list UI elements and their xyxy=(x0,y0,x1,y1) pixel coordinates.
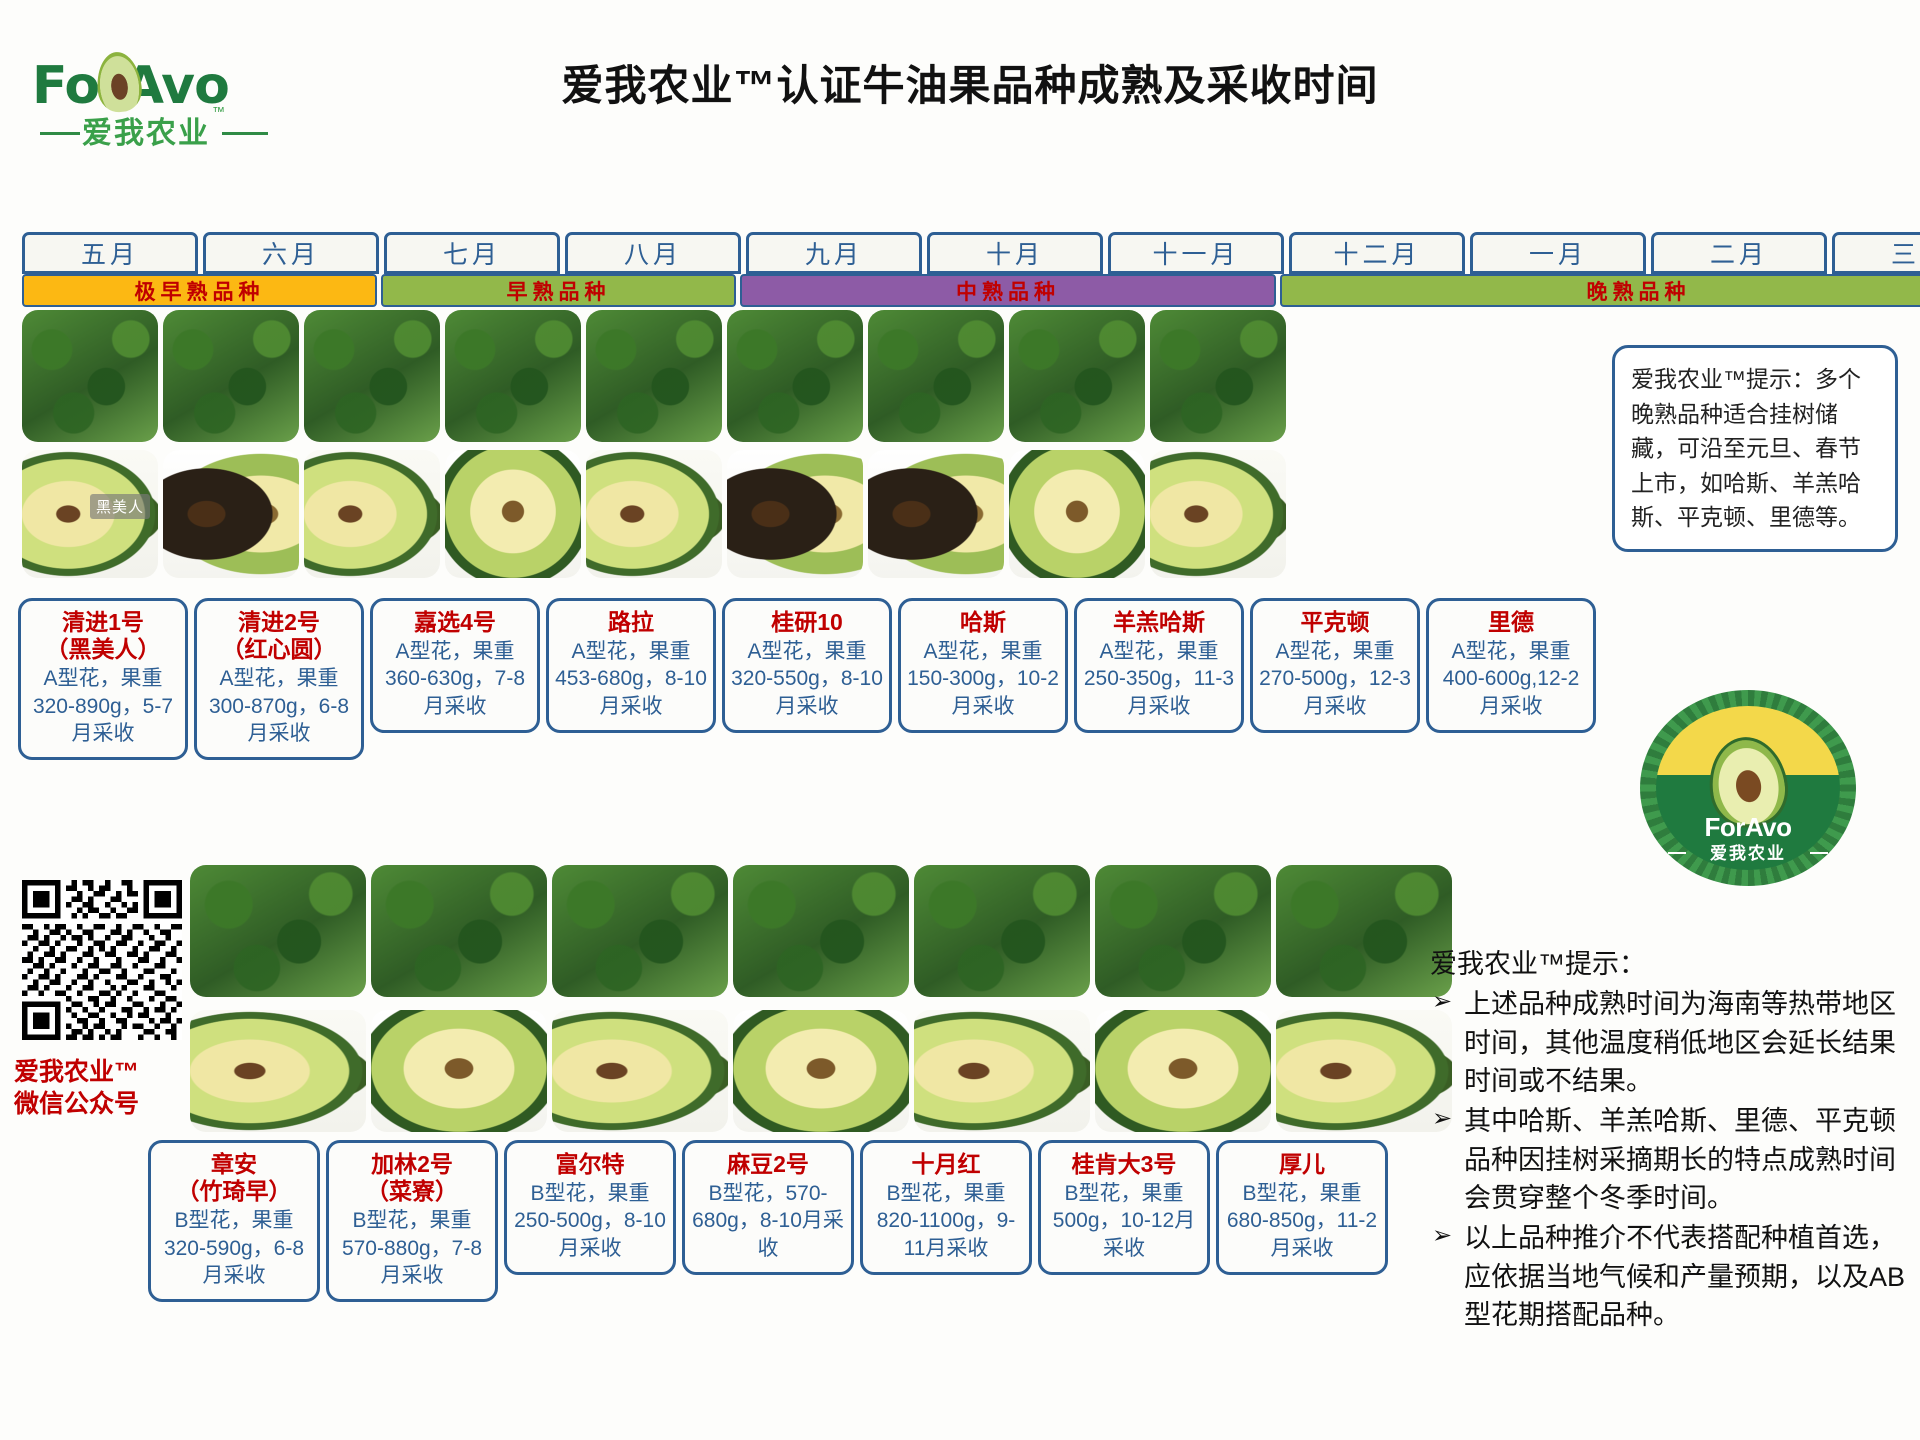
month-cell-1: 五月 xyxy=(22,232,198,274)
brand-logo: ForAvo 爱我农业 ™ xyxy=(26,30,286,140)
variety-card: 羊羔哈斯A型花，果重250-350g，11-3月采收 xyxy=(1074,598,1244,733)
avocado-tree-guikenda3 xyxy=(1095,865,1271,997)
variety-card: 嘉选4号A型花，果重360-630g，7-8月采收 xyxy=(370,598,540,733)
variety-card: 加林2号（菜寮）B型花，果重570-880g，7-8月采收 xyxy=(326,1140,498,1302)
avocado-tree-gem xyxy=(868,310,1004,442)
variety-description: A型花，果重453-680g，8-10月采收 xyxy=(555,638,707,720)
season-band-1: 极早熟品种 xyxy=(22,274,377,307)
row1-variety-cards: 清进1号（黑美人）A型花，果重320-890g，5-7月采收清进2号（红心圆）A… xyxy=(18,598,1596,760)
variety-card: 桂研10A型花，果重320-550g，8-10月采收 xyxy=(722,598,892,733)
season-bar: 极早熟品种早熟品种中熟品种晚熟品种 xyxy=(22,274,1920,307)
tip-bottom: 爱我农业™提示： ➢上述品种成熟时间为海南等热带地区时间，其他温度稍低地区会延长… xyxy=(1430,945,1910,1336)
avocado-cut-lula xyxy=(445,450,581,578)
row2-fruit-photos xyxy=(190,1010,1452,1132)
avocado-cut-heimeiren: 黑美人 xyxy=(22,450,158,578)
avocado-tree-lula xyxy=(445,310,581,442)
avocado-tree-hass xyxy=(727,310,863,442)
variety-name: 加林2号 xyxy=(335,1151,489,1178)
row1-fruit-photos: 黑美人 xyxy=(22,450,1286,578)
avocado-cut-fuerte xyxy=(552,1010,728,1132)
variety-name: 嘉选4号 xyxy=(379,609,531,636)
variety-alias: （竹琦早） xyxy=(157,1178,311,1205)
variety-name: 里德 xyxy=(1435,609,1587,636)
logo-chinese-name: 爱我农业 xyxy=(82,108,210,152)
row1-tree-photos xyxy=(22,310,1286,442)
variety-name: 桂研10 xyxy=(731,609,883,636)
variety-card: 哈斯A型花，果重150-300g，10-2月采收 xyxy=(898,598,1068,733)
tip-bullet-2: ➢其中哈斯、羊羔哈斯、里德、平克顿品种因挂树采摘期长的特点成熟时间会贯穿整个冬季… xyxy=(1430,1102,1910,1217)
avocado-tree-zhangan xyxy=(190,865,366,997)
avocado-tree-pinkerton xyxy=(1009,310,1145,442)
avocado-cut-hongxinyuan xyxy=(163,450,299,578)
variety-card: 路拉A型花，果重453-680g，8-10月采收 xyxy=(546,598,716,733)
variety-description: B型花，果重680-850g，11-2月采收 xyxy=(1225,1180,1379,1262)
variety-card: 清进2号（红心圆）A型花，果重300-870g，6-8月采收 xyxy=(194,598,364,760)
avocado-tree-jialin2 xyxy=(371,865,547,997)
avocado-tree-houer xyxy=(1276,865,1452,997)
page-header: ForAvo 爱我农业 ™ 爱我农业™认证牛油果品种成熟及采收时间 xyxy=(0,0,1920,165)
variety-name: 章安 xyxy=(157,1151,311,1178)
variety-name: 羊羔哈斯 xyxy=(1083,609,1235,636)
variety-card: 章安（竹琦早）B型花，果重320-590g，6-8月采收 xyxy=(148,1140,320,1302)
variety-alias: （菜寮） xyxy=(335,1178,489,1205)
avocado-cut-guiyan10 xyxy=(586,450,722,578)
avocado-cut-guikenda3 xyxy=(1095,1010,1271,1132)
tip-bullet-1: ➢上述品种成熟时间为海南等热带地区时间，其他温度稍低地区会延长结果时间或不结果。 xyxy=(1430,985,1910,1100)
bullet-arrow-icon: ➢ xyxy=(1432,1219,1452,1253)
tip-bottom-title: 爱我农业™提示： xyxy=(1430,945,1910,983)
logo-rule-right xyxy=(222,132,268,135)
variety-name: 富尔特 xyxy=(513,1151,667,1178)
month-cell-6: 十月 xyxy=(927,232,1103,274)
bullet-arrow-icon: ➢ xyxy=(1432,985,1452,1019)
variety-name: 桂肯大3号 xyxy=(1047,1151,1201,1178)
page-title: 爱我农业™认证牛油果品种成熟及采收时间 xyxy=(420,52,1520,113)
variety-description: A型花，果重300-870g，6-8月采收 xyxy=(203,665,355,747)
seal-rule-right xyxy=(1810,852,1828,854)
variety-description: B型花，果重250-500g，8-10月采收 xyxy=(513,1180,667,1262)
season-band-4: 晚熟品种 xyxy=(1280,274,1920,307)
tip-bottom-list: ➢上述品种成熟时间为海南等热带地区时间，其他温度稍低地区会延长结果时间或不结果。… xyxy=(1430,985,1910,1334)
variety-card: 平克顿A型花，果重270-500g，12-3月采收 xyxy=(1250,598,1420,733)
variety-description: B型花，果重320-590g，6-8月采收 xyxy=(157,1207,311,1289)
avocado-cut-gem xyxy=(868,450,1004,578)
fruit-photo-label: 黑美人 xyxy=(90,494,150,519)
row2-variety-cards: 章安（竹琦早）B型花，果重320-590g，6-8月采收加林2号（菜寮）B型花，… xyxy=(148,1140,1388,1302)
avocado-tree-reed xyxy=(1150,310,1286,442)
bullet-arrow-icon: ➢ xyxy=(1432,1102,1452,1136)
month-cell-10: 二月 xyxy=(1651,232,1827,274)
tip-box-late-varieties: 爱我农业™提示：多个晚熟品种适合挂树储藏，可沿至元旦、春节上市，如哈斯、羊羔哈斯… xyxy=(1612,345,1898,552)
tip-bullet-text: 上述品种成熟时间为海南等热带地区时间，其他温度稍低地区会延长结果时间或不结果。 xyxy=(1464,989,1896,1096)
variety-name: 清进2号 xyxy=(203,609,355,636)
variety-description: A型花，果重360-630g，7-8月采收 xyxy=(379,638,531,720)
variety-card: 麻豆2号B型花，570-680g，8-10月采收 xyxy=(682,1140,854,1275)
variety-alias: （红心圆） xyxy=(203,636,355,663)
variety-alias: （黑美人） xyxy=(27,636,179,663)
avocado-cut-jiaxuan4 xyxy=(304,450,440,578)
month-cell-2: 六月 xyxy=(203,232,379,274)
avocado-tree-guiyan10 xyxy=(586,310,722,442)
month-cell-7: 十一月 xyxy=(1108,232,1284,274)
avocado-tree-jiaxuan4 xyxy=(304,310,440,442)
month-cell-3: 七月 xyxy=(384,232,560,274)
variety-card: 清进1号（黑美人）A型花，果重320-890g，5-7月采收 xyxy=(18,598,188,760)
variety-name: 清进1号 xyxy=(27,609,179,636)
variety-description: A型花，果重250-350g，11-3月采收 xyxy=(1083,638,1235,720)
variety-description: B型花，果重820-1100g，9-11月采收 xyxy=(869,1180,1023,1262)
month-cell-5: 九月 xyxy=(746,232,922,274)
variety-description: B型花，570-680g，8-10月采收 xyxy=(691,1180,845,1262)
variety-name: 麻豆2号 xyxy=(691,1151,845,1178)
avocado-tree-shiyuehong xyxy=(914,865,1090,997)
wechat-qr-code[interactable] xyxy=(22,880,182,1040)
variety-card: 十月红B型花，果重820-1100g，9-11月采收 xyxy=(860,1140,1032,1275)
variety-name: 路拉 xyxy=(555,609,707,636)
variety-description: B型花，果重570-880g，7-8月采收 xyxy=(335,1207,489,1289)
avocado-tree-qingjin2 xyxy=(163,310,299,442)
qr-caption-line1: 爱我农业™ xyxy=(14,1052,139,1088)
avocado-cut-shiyuehong xyxy=(914,1010,1090,1132)
variety-name: 哈斯 xyxy=(907,609,1059,636)
avocado-cut-madou2 xyxy=(733,1010,909,1132)
variety-name: 十月红 xyxy=(869,1151,1023,1178)
tip-bullet-text: 其中哈斯、羊羔哈斯、里德、平克顿品种因挂树采摘期长的特点成熟时间会贯穿整个冬季时… xyxy=(1464,1106,1896,1213)
tip-bullet-3: ➢以上品种推介不代表搭配种植首选，应依据当地气候和产量预期，以及AB型花期搭配品… xyxy=(1430,1219,1910,1334)
row2-tree-photos xyxy=(190,865,1452,997)
variety-card: 富尔特B型花，果重250-500g，8-10月采收 xyxy=(504,1140,676,1275)
variety-card: 里德A型花，果重400-600g,12-2月采收 xyxy=(1426,598,1596,733)
month-strip: 五月六月七月八月九月十月十一月十二月一月二月三月 xyxy=(22,232,1920,274)
variety-card: 厚儿B型花，果重680-850g，11-2月采收 xyxy=(1216,1140,1388,1275)
avocado-cut-hass xyxy=(727,450,863,578)
variety-name: 厚儿 xyxy=(1225,1151,1379,1178)
avocado-tree-madou2 xyxy=(733,865,909,997)
avocado-tree-fuerte xyxy=(552,865,728,997)
avocado-whole-pinkerton xyxy=(1009,450,1145,578)
season-band-3: 中熟品种 xyxy=(740,274,1276,307)
avocado-tree-qingjin1 xyxy=(22,310,158,442)
season-band-2: 早熟品种 xyxy=(381,274,736,307)
avocado-cut-jialin2 xyxy=(371,1010,547,1132)
qr-code-icon xyxy=(22,880,182,1040)
avocado-cut-zhangan xyxy=(190,1010,366,1132)
month-cell-4: 八月 xyxy=(565,232,741,274)
month-cell-8: 十二月 xyxy=(1289,232,1465,274)
variety-description: A型花，果重400-600g,12-2月采收 xyxy=(1435,638,1587,720)
variety-description: A型花，果重320-550g，8-10月采收 xyxy=(731,638,883,720)
certification-seal: ForAvo 爱我农业 xyxy=(1640,690,1856,886)
month-cell-9: 一月 xyxy=(1470,232,1646,274)
avocado-cut-houer xyxy=(1276,1010,1452,1132)
seal-wordmark: ForAvo xyxy=(1640,812,1856,843)
variety-description: B型花，果重500g，10-12月采收 xyxy=(1047,1180,1201,1262)
variety-card: 桂肯大3号B型花，果重500g，10-12月采收 xyxy=(1038,1140,1210,1275)
qr-caption-line2: 微信公众号 xyxy=(14,1084,139,1120)
variety-description: A型花，果重320-890g，5-7月采收 xyxy=(27,665,179,747)
logo-trademark-icon: ™ xyxy=(212,104,225,119)
variety-name: 平克顿 xyxy=(1259,609,1411,636)
logo-rule-left xyxy=(40,132,80,135)
variety-description: A型花，果重150-300g，10-2月采收 xyxy=(907,638,1059,720)
month-cell-11: 三月 xyxy=(1832,232,1920,274)
variety-description: A型花，果重270-500g，12-3月采收 xyxy=(1259,638,1411,720)
avocado-cut-reed xyxy=(1150,450,1286,578)
tip-bullet-text: 以上品种推介不代表搭配种植首选，应依据当地气候和产量预期，以及AB型花期搭配品种… xyxy=(1464,1223,1905,1330)
